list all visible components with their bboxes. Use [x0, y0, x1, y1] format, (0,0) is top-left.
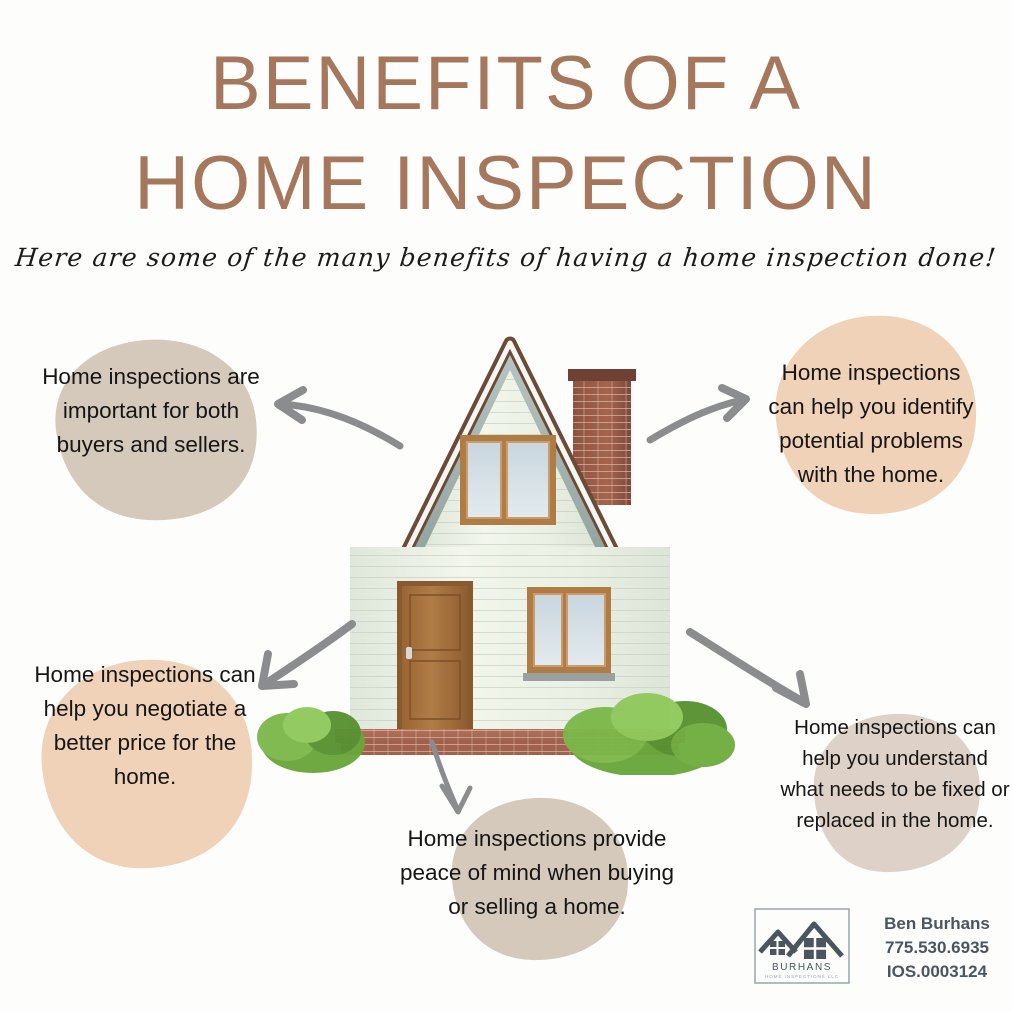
house-illustration [255, 325, 765, 775]
house-svg [255, 325, 765, 775]
page-title: BENEFITS OF A HOME INSPECTION [0, 34, 1012, 234]
title-line-1: BENEFITS OF A [0, 34, 1012, 134]
logo-window-right [804, 938, 826, 959]
benefit-text-top-left: Home inspections are important for both … [36, 360, 266, 462]
benefit-text-bottom-right: Home inspections can help you understand… [780, 712, 1010, 836]
benefit-blob-middle-left: Home inspections can help you negotiate … [30, 650, 260, 872]
infographic-canvas: BENEFITS OF A HOME INSPECTION Here are s… [0, 0, 1012, 1012]
front-door [397, 581, 473, 729]
benefit-blob-bottom-center: Home inspections provide peace of mind w… [442, 792, 632, 962]
contact-license: IOS.0003124 [862, 960, 1012, 984]
contact-block: Ben Burhans 775.530.6935 IOS.0003124 [862, 912, 1012, 984]
shrub-left [257, 707, 365, 773]
logo-window-left [770, 941, 785, 955]
benefit-text-middle-left: Home inspections can help you negotiate … [30, 658, 260, 794]
benefit-blob-top-right: Home inspections can help you identify p… [762, 312, 980, 518]
contact-phone[interactable]: 775.530.6935 [862, 936, 1012, 960]
page-subtitle: Here are some of the many benefits of ha… [0, 243, 1012, 272]
upper-window [460, 435, 556, 525]
benefit-blob-top-left: Home inspections are important for both … [36, 334, 266, 524]
lower-window [523, 587, 615, 681]
logo-tagline: HOME INSPECTIONS LLC [765, 974, 839, 979]
benefit-text-bottom-center: Home inspections provide peace of mind w… [392, 822, 682, 924]
brand-footer: BURHANS HOME INSPECTIONS LLC Ben Burhans… [752, 906, 1002, 992]
benefit-blob-bottom-right: Home inspections can help you understand… [806, 710, 984, 874]
title-line-2: HOME INSPECTION [0, 134, 1012, 234]
contact-name: Ben Burhans [862, 912, 1012, 936]
benefit-text-top-right: Home inspections can help you identify p… [762, 356, 980, 492]
burhans-logo: BURHANS HOME INSPECTIONS LLC [752, 906, 852, 986]
logo-name: BURHANS [772, 962, 832, 973]
